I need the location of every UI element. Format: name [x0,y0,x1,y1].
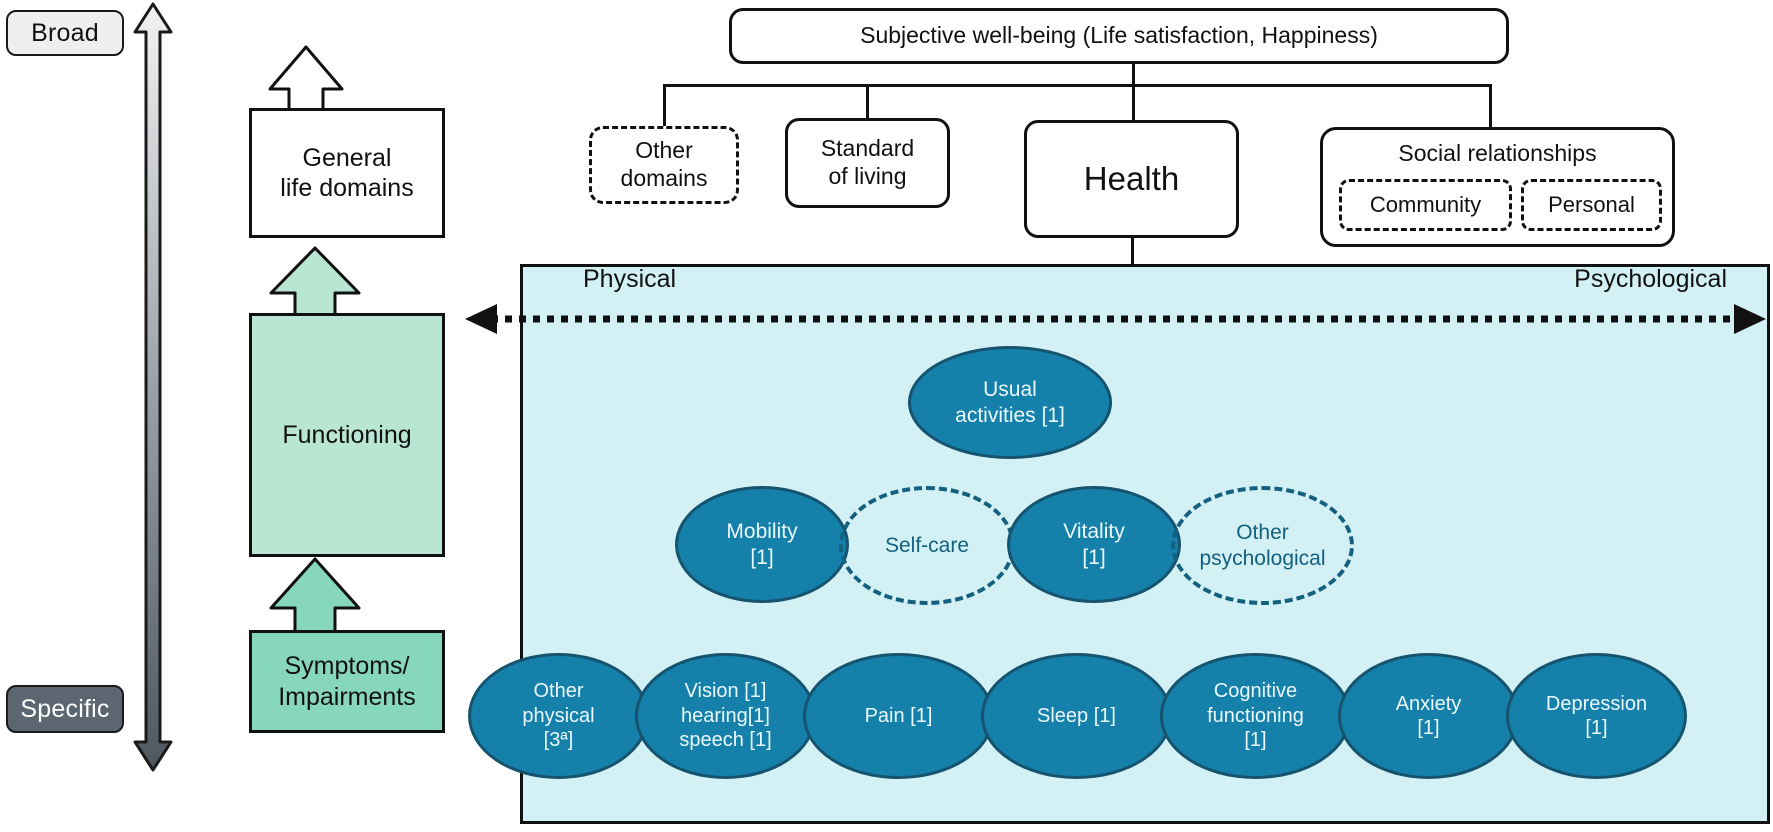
node-other-domains[interactable]: Other domains [589,126,739,204]
ellipse-label-vitality: Vitality [1] [1055,519,1132,570]
connector-drop-health [1132,84,1135,120]
ellipse-sleep[interactable]: Sleep [1] [981,653,1172,779]
ellipse-label-mobility: Mobility [1] [718,519,805,570]
node-label-standard-of-living: Standard of living [821,135,914,190]
ellipse-vitality[interactable]: Vitality [1] [1007,486,1181,603]
node-standard-of-living[interactable]: Standard of living [785,118,950,208]
ladder-box-functioning: Functioning [249,313,445,557]
ellipse-label-sleep: Sleep [1] [1029,704,1124,728]
ellipse-pain[interactable]: Pain [1] [803,653,994,779]
ladder-label-functioning: Functioning [282,420,411,451]
ellipse-other-psychological[interactable]: Other psychological [1171,486,1354,605]
scale-label-specific-text: Specific [20,695,109,724]
ladder-label-general-life-domains: General life domains [280,143,413,204]
broad-to-specific-double-arrow [130,2,176,772]
ellipse-other-physical[interactable]: Other physical [3ª] [468,653,649,779]
subnode-label-personal: Personal [1548,192,1635,218]
axis-label-physical: Physical [583,265,676,294]
node-label-social-relationships: Social relationships [1323,140,1672,168]
ladder-box-symptoms-impairments: Symptoms/ Impairments [249,630,445,733]
ellipse-label-vision-hearing-speech: Vision [1] hearing[1] speech [1] [671,679,779,752]
arrow-up-out-of-general-life-domains [267,44,345,112]
physical-psychological-axis-arrow [463,301,1768,337]
ellipse-label-cognitive-functioning: Cognitive functioning [1] [1199,679,1312,752]
ellipse-vision-hearing-speech[interactable]: Vision [1] hearing[1] speech [1] [635,653,816,779]
ladder-box-general-life-domains: General life domains [249,108,445,238]
connector-drop-other-domains [663,84,666,128]
ellipse-label-other-psychological: Other psychological [1191,520,1333,571]
ellipse-label-pain: Pain [1] [857,704,941,728]
ellipse-anxiety[interactable]: Anxiety [1] [1338,653,1519,779]
scale-label-specific: Specific [6,685,124,733]
connector-drop-social-relationships [1489,84,1492,128]
connector-health-to-panel [1131,238,1134,266]
connector-root-stem [1132,64,1135,84]
ellipse-label-self-care: Self-care [877,533,977,559]
ellipse-depression[interactable]: Depression [1] [1506,653,1687,779]
ellipse-label-usual-activities: Usual activities [1] [947,377,1073,428]
subnode-label-community: Community [1370,192,1481,218]
ellipse-cognitive-functioning[interactable]: Cognitive functioning [1] [1160,653,1351,779]
ellipse-label-depression: Depression [1] [1538,692,1655,741]
ellipse-label-anxiety: Anxiety [1] [1388,692,1470,741]
health-domains-panel: Physical Psychological Usual activities … [520,264,1770,824]
scale-label-broad: Broad [6,10,124,56]
diagram-canvas: Broad Specific General life domains Func… [0,0,1773,832]
subnode-community[interactable]: Community [1339,179,1512,231]
connector-bus [663,84,1492,87]
arrow-up-functioning-to-general [267,245,363,317]
node-social-relationships[interactable]: Social relationships Community Personal [1320,127,1675,247]
axis-label-psychological: Psychological [1574,265,1727,294]
node-label-health: Health [1084,159,1179,199]
connector-drop-standard-of-living [866,84,869,118]
node-subjective-well-being[interactable]: Subjective well-being (Life satisfaction… [729,8,1509,64]
ellipse-self-care[interactable]: Self-care [839,486,1015,605]
arrow-up-symptoms-to-functioning [267,556,363,636]
scale-label-broad-text: Broad [31,19,99,48]
ellipse-mobility[interactable]: Mobility [1] [675,486,849,603]
node-health[interactable]: Health [1024,120,1239,238]
subnode-personal[interactable]: Personal [1521,179,1662,231]
ellipse-usual-activities[interactable]: Usual activities [1] [908,346,1112,459]
node-label-other-domains: Other domains [621,137,708,192]
ladder-label-symptoms-impairments: Symptoms/ Impairments [278,651,416,712]
ellipse-label-other-physical: Other physical [3ª] [514,679,602,752]
node-label-subjective-well-being: Subjective well-being (Life satisfaction… [860,22,1378,50]
